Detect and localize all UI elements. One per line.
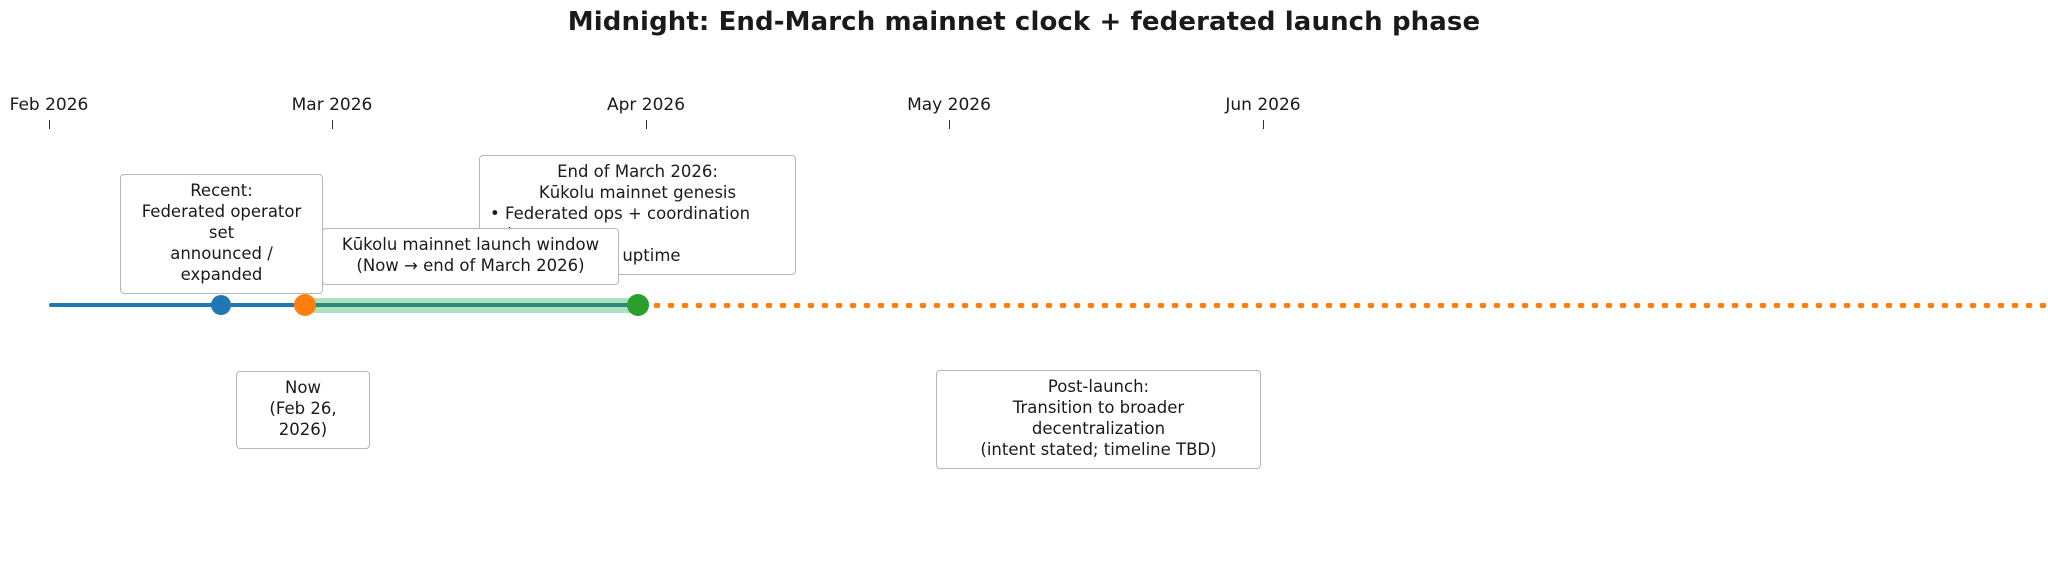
- annotation-line: Kūkolu mainnet genesis: [490, 183, 785, 204]
- annotation-layer: Recent:Federated operator setannounced /…: [0, 0, 2048, 574]
- annotation-line: Federated operator set: [131, 202, 312, 244]
- recent-annotation: Recent:Federated operator setannounced /…: [120, 174, 323, 294]
- annotation-line: Recent:: [131, 181, 312, 202]
- annotation-line: Transition to broader decentralization: [947, 398, 1250, 440]
- timeline-diagram: Midnight: End-March mainnet clock + fede…: [0, 0, 2048, 574]
- post-launch-annotation: Post-launch:Transition to broader decent…: [936, 370, 1261, 469]
- annotation-line: (Now → end of March 2026): [333, 256, 608, 277]
- launch-window-annotation: Kūkolu mainnet launch window(Now → end o…: [322, 228, 619, 285]
- annotation-line: End of March 2026:: [490, 162, 785, 183]
- annotation-line: Kūkolu mainnet launch window: [333, 235, 608, 256]
- annotation-line: Now: [247, 378, 359, 399]
- annotation-line: (intent stated; timeline TBD): [947, 440, 1250, 461]
- now-annotation: Now(Feb 26, 2026): [236, 371, 370, 449]
- annotation-line: Post-launch:: [947, 377, 1250, 398]
- annotation-line: (Feb 26, 2026): [247, 399, 359, 441]
- annotation-line: announced / expanded: [131, 244, 312, 286]
